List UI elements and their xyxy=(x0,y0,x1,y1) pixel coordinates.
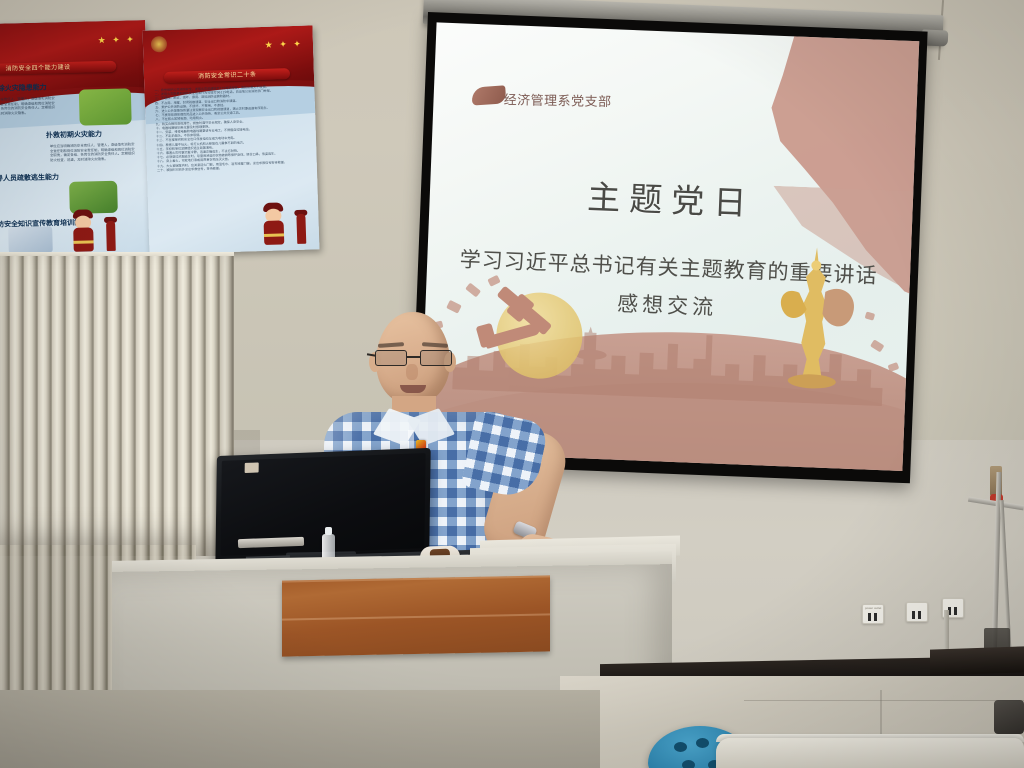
mouth xyxy=(400,385,426,393)
flag-stars-icon-2: ★ ✦ ✦ xyxy=(265,39,303,51)
fire-hydrant-icon-2 xyxy=(294,210,308,244)
party-flag-icon xyxy=(471,85,506,105)
slide-org-name: 经济管理系党支部 xyxy=(503,89,611,110)
power-outlet-1[interactable]: power outlet xyxy=(862,604,884,624)
poster-body-right: 一、自觉维护公共消防安全，发现火灾迅速拨打119电话报警，消防队救火不收费。 二… xyxy=(155,84,308,207)
poster-heading-1: 检查消除火灾隐患能力 xyxy=(0,82,47,94)
poster-heading-3: 组织引导人员疏散逃生能力 xyxy=(0,172,59,184)
dark-object-corner xyxy=(994,700,1024,734)
radiator xyxy=(0,256,234,556)
fireman-mascot-icon xyxy=(70,209,97,254)
poster-body-left-2: 单位应当明确消防安全责任人、管理人，逐级落实消防安全责任制和岗位消防安全责任制，… xyxy=(50,142,136,178)
nose xyxy=(406,364,418,380)
monitor-sticker xyxy=(245,462,259,473)
baseboard-trim-right xyxy=(930,646,1024,675)
power-outlet-2[interactable] xyxy=(906,602,928,622)
poster-illustration-3 xyxy=(8,226,53,253)
fire-hydrant-icon xyxy=(104,217,118,251)
golden-monument-icon xyxy=(765,246,863,399)
fire-safety-poster-left: ★ ✦ ✦ 消防安全四个能力建设 检查消除火灾隐患能力 单位应当明确消防安全责任… xyxy=(0,20,151,256)
poster-illustration-1 xyxy=(79,88,132,125)
student-desk[interactable] xyxy=(716,738,1024,768)
floor-left xyxy=(0,690,600,768)
flag-stars-icon: ★ ✦ ✦ xyxy=(98,34,136,46)
fire-safety-poster-right: ★ ✦ ✦ 消防安全常识二十条 一、自觉维护公共消防安全，发现火灾迅速拨打119… xyxy=(143,25,320,254)
poster-heading-2: 扑救初期火灾能力 xyxy=(46,129,102,140)
fireman-mascot-icon-2 xyxy=(260,202,287,247)
slide-org-logo: 经济管理系党支部 xyxy=(471,84,672,118)
classroom-scene: ★ ✦ ✦ 消防安全四个能力建设 检查消除火灾隐患能力 单位应当明确消防安全责任… xyxy=(0,0,1024,768)
